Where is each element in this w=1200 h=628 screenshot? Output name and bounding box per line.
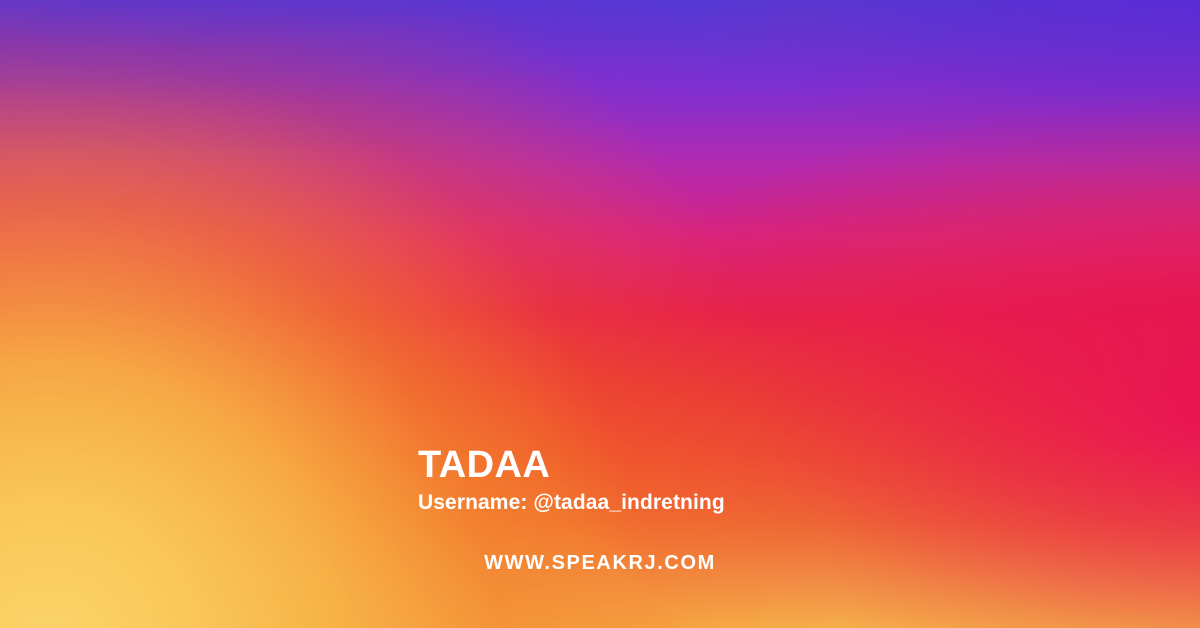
gradient-base-layer bbox=[0, 0, 1200, 628]
gradient-warm-glow-layer bbox=[0, 0, 1200, 628]
social-profile-card: TADAA Username: @tadaa_indretning WWW.SP… bbox=[0, 0, 1200, 628]
site-url-label: WWW.SPEAKRJ.COM bbox=[484, 551, 716, 575]
profile-text-block: TADAA Username: @tadaa_indretning bbox=[418, 444, 725, 515]
gradient-violet-right-layer bbox=[0, 0, 1200, 628]
gradient-violet-layer bbox=[0, 0, 1200, 628]
gradient-rose-layer bbox=[0, 0, 1200, 628]
profile-username: Username: @tadaa_indretning bbox=[418, 490, 725, 515]
card-footer: WWW.SPEAKRJ.COM bbox=[0, 551, 1200, 575]
profile-display-name: TADAA bbox=[418, 444, 725, 486]
